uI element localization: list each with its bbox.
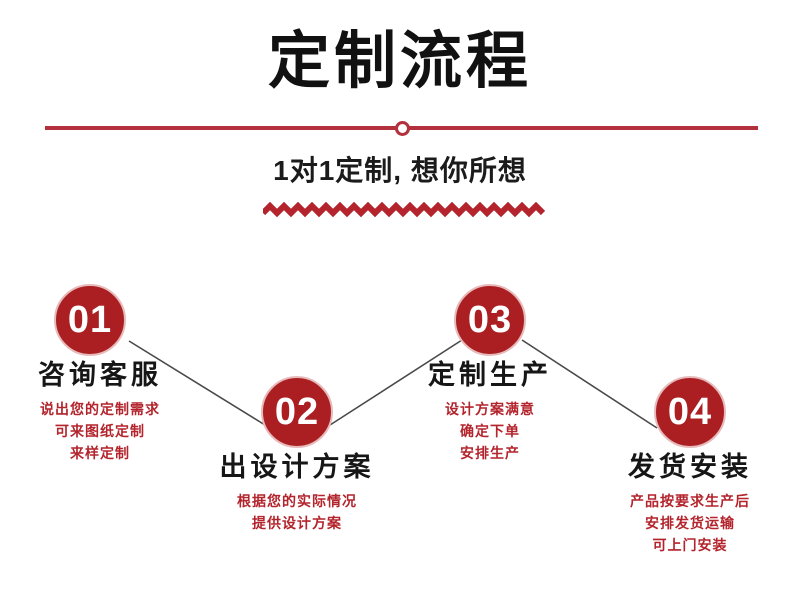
step-detail-line: 说出您的定制需求 <box>0 398 210 420</box>
step-details-03: 设计方案满意 确定下单 安排生产 <box>380 398 600 464</box>
step-title-03: 定制生产 <box>380 358 600 392</box>
step-details-02: 根据您的实际情况 提供设计方案 <box>187 490 407 534</box>
flow-step-04[interactable]: 04 发货安装 产品按要求生产后 安排发货运输 可上门安装 <box>580 450 800 556</box>
step-title-02: 出设计方案 <box>187 450 407 484</box>
flow-step-02[interactable]: 02 出设计方案 根据您的实际情况 提供设计方案 <box>187 450 407 534</box>
step-detail-line: 安排生产 <box>380 442 600 464</box>
step-detail-line: 来样定制 <box>0 442 210 464</box>
step-detail-line: 根据您的实际情况 <box>187 490 407 512</box>
step-detail-line: 提供设计方案 <box>187 512 407 534</box>
step-title-01: 咨询客服 <box>0 358 210 392</box>
step-detail-line: 可上门安装 <box>580 534 800 556</box>
step-detail-line: 产品按要求生产后 <box>580 490 800 512</box>
step-number-badge-04: 04 <box>654 376 726 448</box>
flow-step-01[interactable]: 01 咨询客服 说出您的定制需求 可来图纸定制 来样定制 <box>0 358 210 464</box>
step-title-04: 发货安装 <box>580 450 800 484</box>
step-number-badge-01: 01 <box>54 284 126 356</box>
infographic-page: 定制流程 1对1定制, 想你所想 01 咨询客服 说出您的定制需求 可来图纸定制… <box>0 0 800 600</box>
step-details-04: 产品按要求生产后 安排发货运输 可上门安装 <box>580 490 800 556</box>
step-detail-line: 确定下单 <box>380 420 600 442</box>
step-number-badge-02: 02 <box>261 376 333 448</box>
flow-step-03[interactable]: 03 定制生产 设计方案满意 确定下单 安排生产 <box>380 358 600 464</box>
process-flow: 01 咨询客服 说出您的定制需求 可来图纸定制 来样定制 02 出设计方案 根据… <box>0 0 800 600</box>
step-detail-line: 设计方案满意 <box>380 398 600 420</box>
step-detail-line: 安排发货运输 <box>580 512 800 534</box>
step-number-badge-03: 03 <box>454 284 526 356</box>
step-detail-line: 可来图纸定制 <box>0 420 210 442</box>
step-details-01: 说出您的定制需求 可来图纸定制 来样定制 <box>0 398 210 464</box>
